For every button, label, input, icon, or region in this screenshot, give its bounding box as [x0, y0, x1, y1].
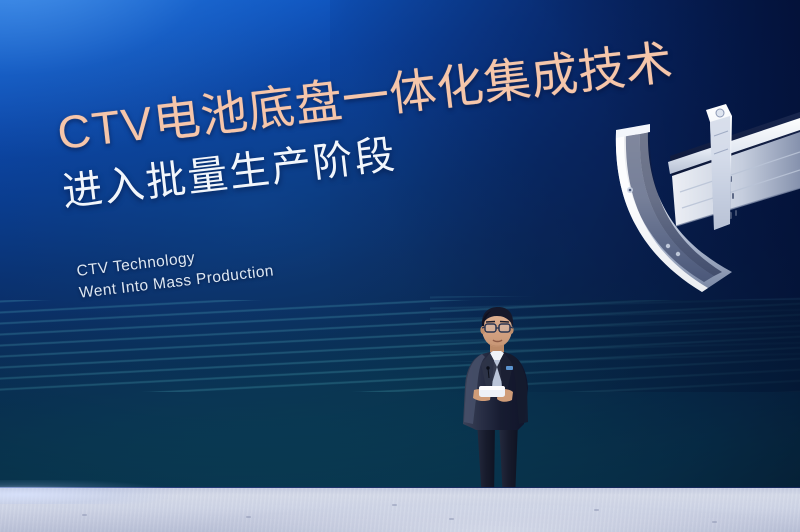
floor-speck: [594, 509, 599, 511]
screenshot-root: CTV电池底盘一体化集成技术 进入批量生产阶段 CTV Technology W…: [0, 0, 800, 532]
floor-speck: [712, 521, 717, 523]
slide-title-latin: CTV: [55, 96, 157, 159]
slide-title-chinese-text: 电池底盘一体化集成技术: [150, 35, 675, 148]
floor-speck: [392, 504, 397, 506]
floor-speck: [246, 516, 251, 518]
floor-speck: [449, 518, 454, 520]
stage-floor-light-glow: [0, 480, 260, 504]
battery-chassis-render: [610, 96, 800, 296]
floor-speck: [82, 514, 87, 516]
